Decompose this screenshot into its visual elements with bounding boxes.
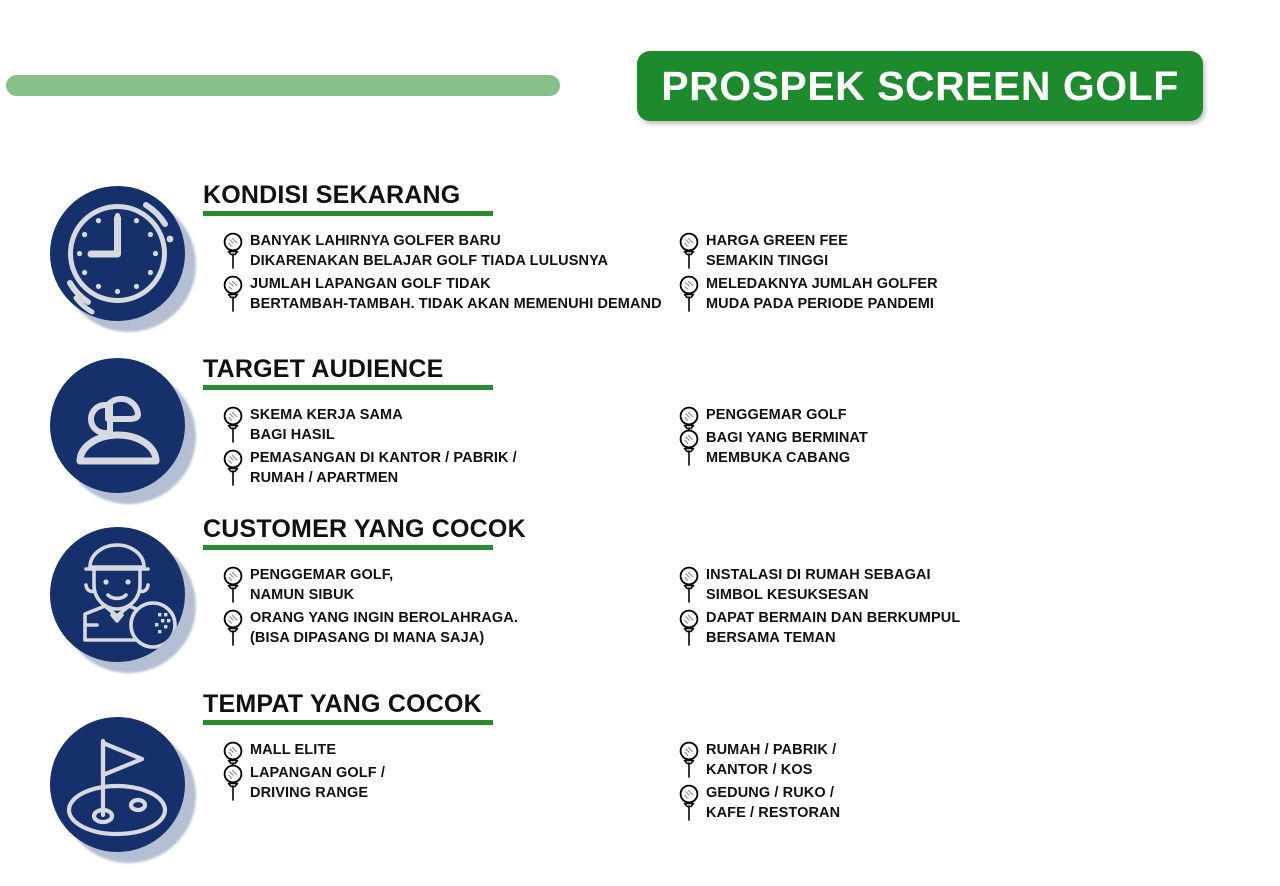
golf-tee-bullet-icon <box>222 406 244 446</box>
bullet-text: JUMLAH LAPANGAN GOLF TIDAKBERTAMBAH-TAMB… <box>250 274 652 314</box>
section-icon-wrap <box>50 717 196 863</box>
golf-tee-bullet-icon <box>678 275 700 315</box>
bullet-line: NAMUN SIBUK <box>250 585 652 605</box>
bullet-line: MELEDAKNYA JUMLAH GOLFER <box>706 274 1128 294</box>
section-heading: TEMPAT YANG COCOK <box>203 690 482 719</box>
bullet-line: BERTAMBAH-TAMBAH. TIDAK AKAN MEMENUHI DE… <box>250 294 652 314</box>
heading-underline <box>203 720 493 725</box>
section-3: CUSTOMER YANG COCOK PENGGEMAR GOLF,NAMUN… <box>0 517 1280 687</box>
bullet-line: DIKARENAKAN BELAJAR GOLF TIADA LULUSNYA <box>250 251 652 271</box>
accent-bar <box>6 75 560 96</box>
bullet-item: MALL ELITE <box>222 740 652 760</box>
bullet-line: SIMBOL KESUKSESAN <box>706 585 1128 605</box>
bullet-column-left: PENGGEMAR GOLF,NAMUN SIBUK ORANG YANG IN… <box>222 565 652 651</box>
bullet-item: PENGGEMAR GOLF,NAMUN SIBUK <box>222 565 652 605</box>
section-heading: KONDISI SEKARANG <box>203 181 460 210</box>
bullet-line: DAPAT BERMAIN DAN BERKUMPUL <box>706 608 1128 628</box>
bullet-column-right: PENGGEMAR GOLF BAGI YANG BERMINATMEMBUKA… <box>678 405 1128 471</box>
section-icon-wrap <box>50 358 196 504</box>
bullet-text: DAPAT BERMAIN DAN BERKUMPULBERSAMA TEMAN <box>706 608 1128 648</box>
bullet-item: LAPANGAN GOLF /DRIVING RANGE <box>222 763 652 803</box>
bullet-line: GEDUNG / RUKO / <box>706 783 1128 803</box>
bullet-line: KANTOR / KOS <box>706 760 1128 780</box>
bullet-line: LAPANGAN GOLF / <box>250 763 652 783</box>
bullet-item: PEMASANGAN DI KANTOR / PABRIK /RUMAH / A… <box>222 448 652 488</box>
bullet-line: MUDA PADA PERIODE PANDEMI <box>706 294 1128 314</box>
bullet-item: DAPAT BERMAIN DAN BERKUMPULBERSAMA TEMAN <box>678 608 1128 648</box>
clock-icon <box>50 186 185 321</box>
bullet-line: MALL ELITE <box>250 740 652 760</box>
bullet-item: RUMAH / PABRIK /KANTOR / KOS <box>678 740 1128 780</box>
section-icon-wrap <box>50 527 196 673</box>
bullet-column-right: HARGA GREEN FEESEMAKIN TINGGI MELEDAKNYA… <box>678 231 1128 317</box>
bullet-column-left: SKEMA KERJA SAMABAGI HASIL PEMASANGAN DI… <box>222 405 652 491</box>
bullet-line: HARGA GREEN FEE <box>706 231 1128 251</box>
golf-tee-bullet-icon <box>222 609 244 649</box>
golfer-icon <box>50 527 185 662</box>
bullet-item: ORANG YANG INGIN BEROLAHRAGA.(BISA DIPAS… <box>222 608 652 648</box>
bullet-column-left: MALL ELITE LAPANGAN GOLF /DRIVING RANGE <box>222 740 652 806</box>
bullet-line: JUMLAH LAPANGAN GOLF TIDAK <box>250 274 652 294</box>
golf-tee-bullet-icon <box>222 275 244 315</box>
bullet-text: SKEMA KERJA SAMABAGI HASIL <box>250 405 652 445</box>
bullet-line: DRIVING RANGE <box>250 783 652 803</box>
bullet-item: MELEDAKNYA JUMLAH GOLFERMUDA PADA PERIOD… <box>678 274 1128 314</box>
golf-tee-bullet-icon <box>678 609 700 649</box>
section-4: TEMPAT YANG COCOK MALL ELITE LAPANGAN GO… <box>0 692 1280 862</box>
bullet-item: BAGI YANG BERMINATMEMBUKA CABANG <box>678 428 1128 468</box>
golf-tee-bullet-icon <box>678 232 700 272</box>
golf-flag-green-icon <box>50 717 185 852</box>
bullet-text: PENGGEMAR GOLF <box>706 405 1128 425</box>
bullet-line: PENGGEMAR GOLF, <box>250 565 652 585</box>
bullet-text: PEMASANGAN DI KANTOR / PABRIK /RUMAH / A… <box>250 448 652 488</box>
person-with-cap-icon <box>50 358 185 493</box>
bullet-line: BERSAMA TEMAN <box>706 628 1128 648</box>
bullet-item: BANYAK LAHIRNYA GOLFER BARUDIKARENAKAN B… <box>222 231 652 271</box>
section-2: TARGET AUDIENCE SKEMA KERJA SAMABAGI HAS… <box>0 357 1280 527</box>
bullet-column-left: BANYAK LAHIRNYA GOLFER BARUDIKARENAKAN B… <box>222 231 652 317</box>
section-icon-wrap <box>50 186 196 332</box>
golf-tee-bullet-icon <box>222 764 244 804</box>
bullet-text: GEDUNG / RUKO /KAFE / RESTORAN <box>706 783 1128 823</box>
bullet-text: MELEDAKNYA JUMLAH GOLFERMUDA PADA PERIOD… <box>706 274 1128 314</box>
bullet-text: BAGI YANG BERMINATMEMBUKA CABANG <box>706 428 1128 468</box>
bullet-item: PENGGEMAR GOLF <box>678 405 1128 425</box>
golf-tee-bullet-icon <box>222 232 244 272</box>
heading-underline <box>203 211 493 216</box>
bullet-text: RUMAH / PABRIK /KANTOR / KOS <box>706 740 1128 780</box>
bullet-text: BANYAK LAHIRNYA GOLFER BARUDIKARENAKAN B… <box>250 231 652 271</box>
bullet-column-right: INSTALASI DI RUMAH SEBAGAISIMBOL KESUKSE… <box>678 565 1128 651</box>
bullet-line: RUMAH / APARTMEN <box>250 468 652 488</box>
bullet-line: PENGGEMAR GOLF <box>706 405 1128 425</box>
bullet-line: SKEMA KERJA SAMA <box>250 405 652 425</box>
bullet-line: ORANG YANG INGIN BEROLAHRAGA. <box>250 608 652 628</box>
bullet-line: BAGI YANG BERMINAT <box>706 428 1128 448</box>
section-1: KONDISI SEKARANG BANYAK LAHIRNYA GOLFER … <box>0 183 1280 353</box>
bullet-text: ORANG YANG INGIN BEROLAHRAGA.(BISA DIPAS… <box>250 608 652 648</box>
heading-underline <box>203 385 493 390</box>
bullet-line: BAGI HASIL <box>250 425 652 445</box>
bullet-text: LAPANGAN GOLF /DRIVING RANGE <box>250 763 652 803</box>
heading-underline <box>203 545 493 550</box>
bullet-text: INSTALASI DI RUMAH SEBAGAISIMBOL KESUKSE… <box>706 565 1128 605</box>
bullet-line: INSTALASI DI RUMAH SEBAGAI <box>706 565 1128 585</box>
bullet-line: BANYAK LAHIRNYA GOLFER BARU <box>250 231 652 251</box>
bullet-line: KAFE / RESTORAN <box>706 803 1128 823</box>
bullet-line: PEMASANGAN DI KANTOR / PABRIK / <box>250 448 652 468</box>
golf-tee-bullet-icon <box>222 566 244 606</box>
golf-tee-bullet-icon <box>222 449 244 489</box>
golf-tee-bullet-icon <box>678 784 700 824</box>
bullet-item: INSTALASI DI RUMAH SEBAGAISIMBOL KESUKSE… <box>678 565 1128 605</box>
bullet-item: GEDUNG / RUKO /KAFE / RESTORAN <box>678 783 1128 823</box>
bullet-line: SEMAKIN TINGGI <box>706 251 1128 271</box>
bullet-line: MEMBUKA CABANG <box>706 448 1128 468</box>
bullet-item: SKEMA KERJA SAMABAGI HASIL <box>222 405 652 445</box>
bullet-line: RUMAH / PABRIK / <box>706 740 1128 760</box>
bullet-item: HARGA GREEN FEESEMAKIN TINGGI <box>678 231 1128 271</box>
bullet-line: (BISA DIPASANG DI MANA SAJA) <box>250 628 652 648</box>
golf-tee-bullet-icon <box>678 566 700 606</box>
golf-tee-bullet-icon <box>678 741 700 781</box>
bullet-text: PENGGEMAR GOLF,NAMUN SIBUK <box>250 565 652 605</box>
bullet-column-right: RUMAH / PABRIK /KANTOR / KOS GEDUNG / RU… <box>678 740 1128 826</box>
title-banner: PROSPEK SCREEN GOLF <box>637 51 1203 121</box>
section-heading: CUSTOMER YANG COCOK <box>203 515 526 544</box>
bullet-item: JUMLAH LAPANGAN GOLF TIDAKBERTAMBAH-TAMB… <box>222 274 652 314</box>
golf-tee-bullet-icon <box>678 429 700 469</box>
page-title: PROSPEK SCREEN GOLF <box>661 63 1179 110</box>
section-heading: TARGET AUDIENCE <box>203 355 444 384</box>
bullet-text: HARGA GREEN FEESEMAKIN TINGGI <box>706 231 1128 271</box>
bullet-text: MALL ELITE <box>250 740 652 760</box>
